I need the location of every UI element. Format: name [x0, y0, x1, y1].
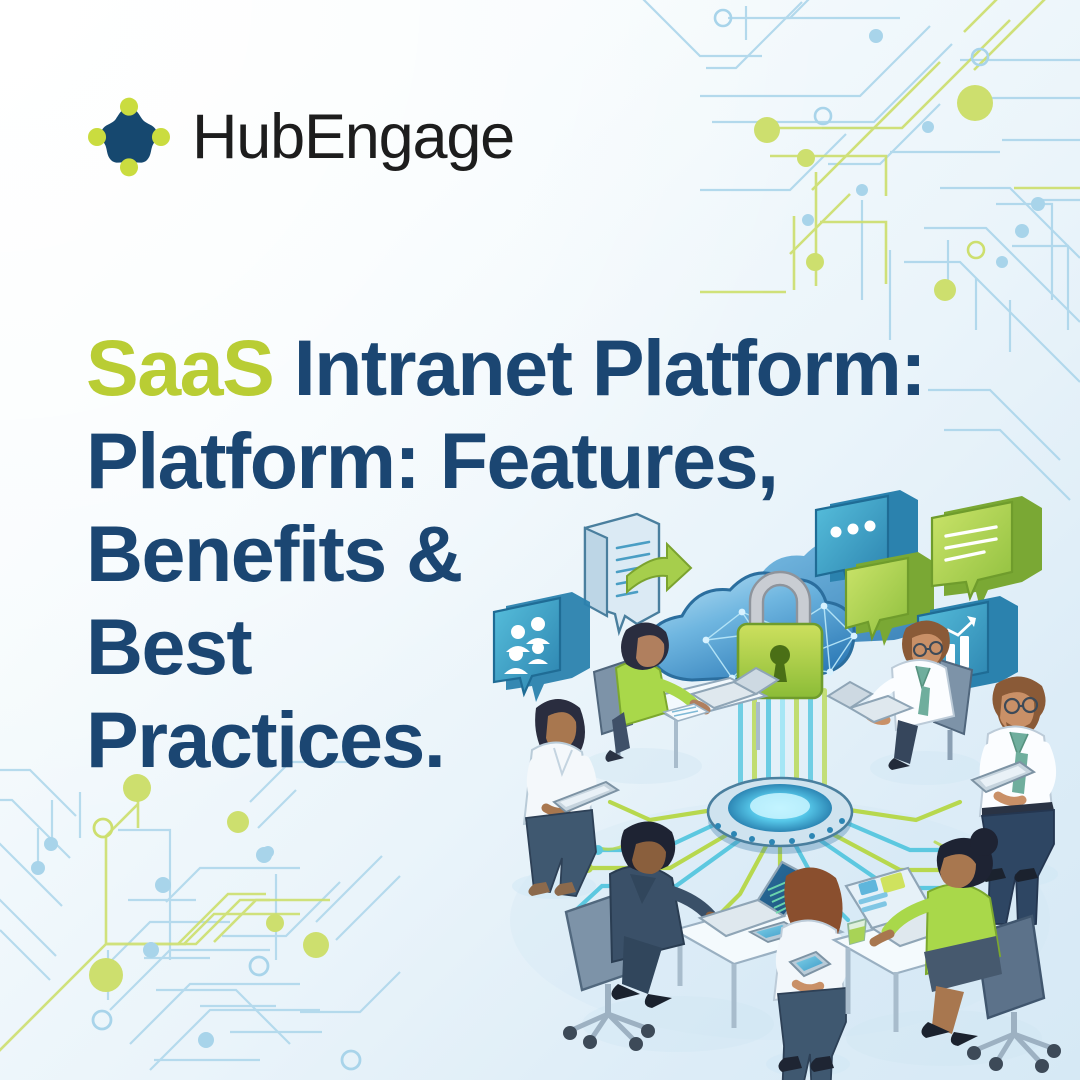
brand-name: HubEngage	[192, 106, 514, 169]
people-group-bubble-icon	[494, 592, 590, 702]
poster-canvas: HubEngage SaaS Intranet Platform: Platfo…	[0, 0, 1080, 1080]
headline-line-1: SaaS Intranet Platform:	[86, 321, 986, 414]
headline-line-1-rest: Intranet Platform:	[294, 323, 925, 412]
glowing-data-hub-disc	[708, 778, 852, 854]
brand-logo[interactable]: HubEngage	[88, 96, 514, 178]
headline-accent-word: SaaS	[86, 323, 273, 412]
message-lines-bubble-icon	[932, 496, 1042, 608]
document-share-icon	[585, 514, 691, 632]
hero-illustration	[480, 490, 1080, 1080]
brand-name-engage: Engage	[304, 102, 514, 172]
hubengage-star-icon	[88, 96, 170, 178]
brand-name-hub: Hub	[192, 102, 304, 172]
